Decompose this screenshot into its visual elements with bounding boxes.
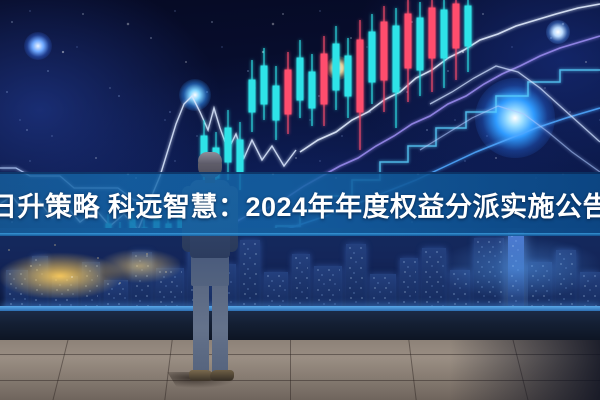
building [474,238,504,310]
rooftop-parapet-wall [0,311,600,340]
floor-seam [53,340,69,400]
building [370,274,396,310]
building [400,258,418,310]
building [556,250,576,310]
hair [198,152,222,164]
building [292,254,310,310]
headline-text: 日升策略 科远智慧：2024年年度权益分派实施公告 [0,172,600,236]
leg-right [212,282,228,374]
screenshot-stage: 日升策略 科远智慧：2024年年度权益分派实施公告 [0,0,600,400]
floor-seam [408,340,416,400]
floor-shadow-right [450,340,600,400]
floor-seam [164,340,172,400]
building [346,244,366,310]
shoe-right [210,370,234,381]
city-lights-gold-specks [0,236,185,298]
building [528,262,552,310]
building [450,270,470,310]
building-tower-tall [508,232,524,310]
building [240,240,260,310]
building [422,248,446,310]
building [264,272,288,310]
building [580,272,600,310]
building [314,266,342,310]
leg-left [193,282,209,374]
